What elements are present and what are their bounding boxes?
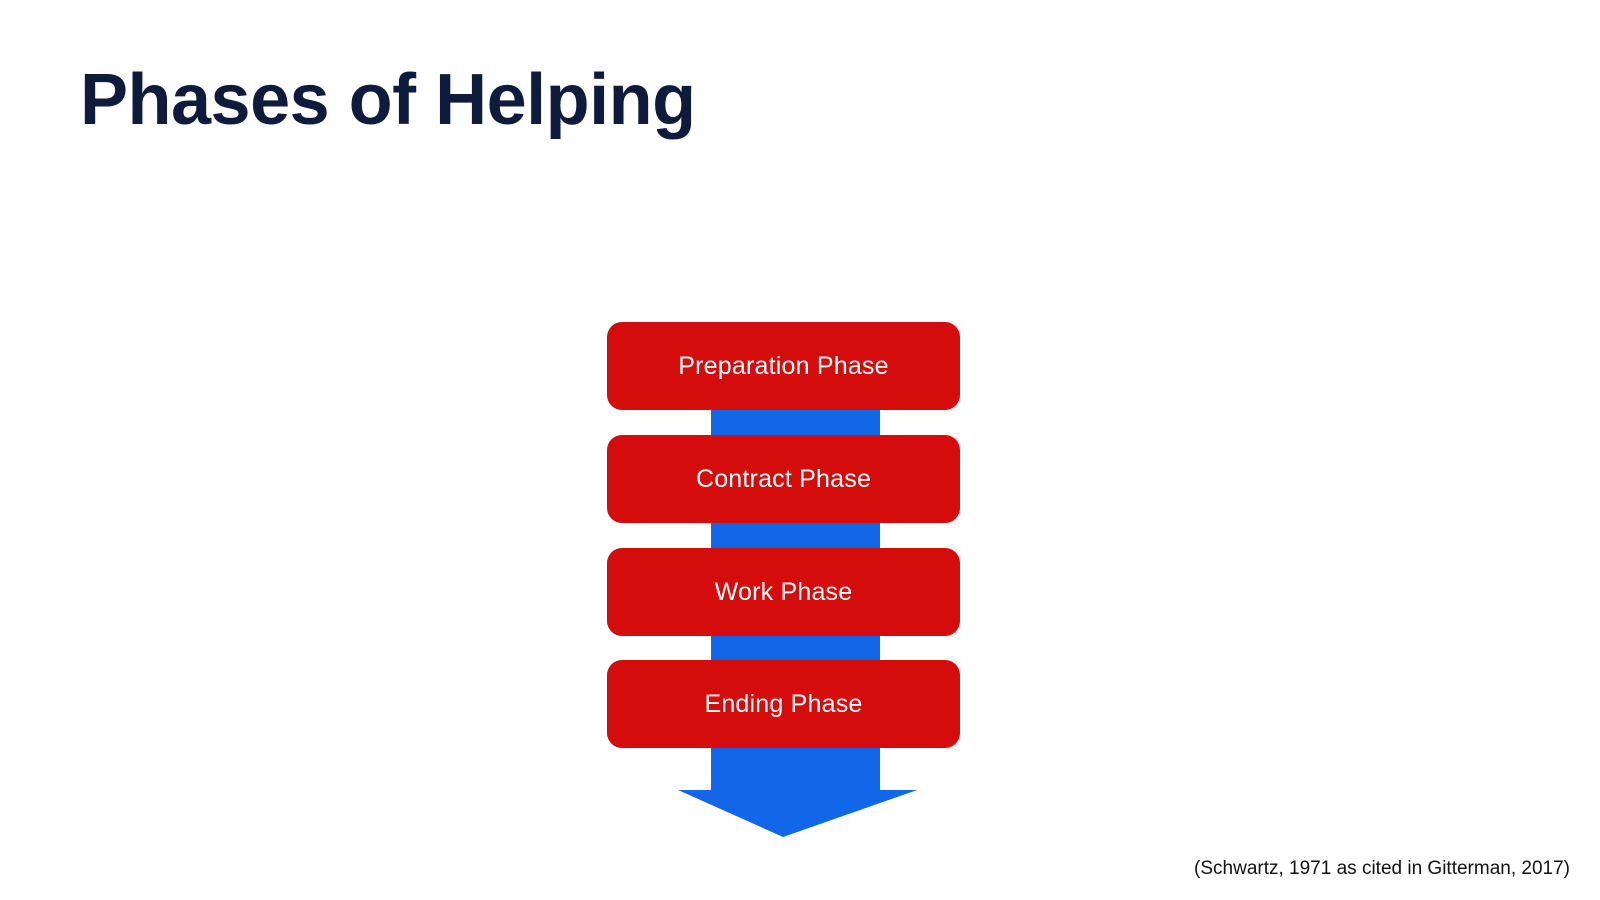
phase-label: Preparation Phase — [678, 354, 888, 379]
phase-box-work[interactable]: Work Phase — [607, 548, 960, 636]
phase-box-ending[interactable]: Ending Phase — [607, 660, 960, 748]
phases-of-helping-diagram: Preparation Phase Contract Phase Work Ph… — [0, 0, 1600, 900]
phase-label: Work Phase — [715, 580, 853, 605]
slide-canvas: Phases of Helping Preparation Phase Cont… — [0, 0, 1600, 900]
source-citation: (Schwartz, 1971 as cited in Gitterman, 2… — [1194, 858, 1570, 880]
phase-box-contract[interactable]: Contract Phase — [607, 435, 960, 523]
phase-box-preparation[interactable]: Preparation Phase — [607, 322, 960, 410]
phase-label: Contract Phase — [696, 467, 871, 492]
phase-label: Ending Phase — [704, 692, 862, 717]
